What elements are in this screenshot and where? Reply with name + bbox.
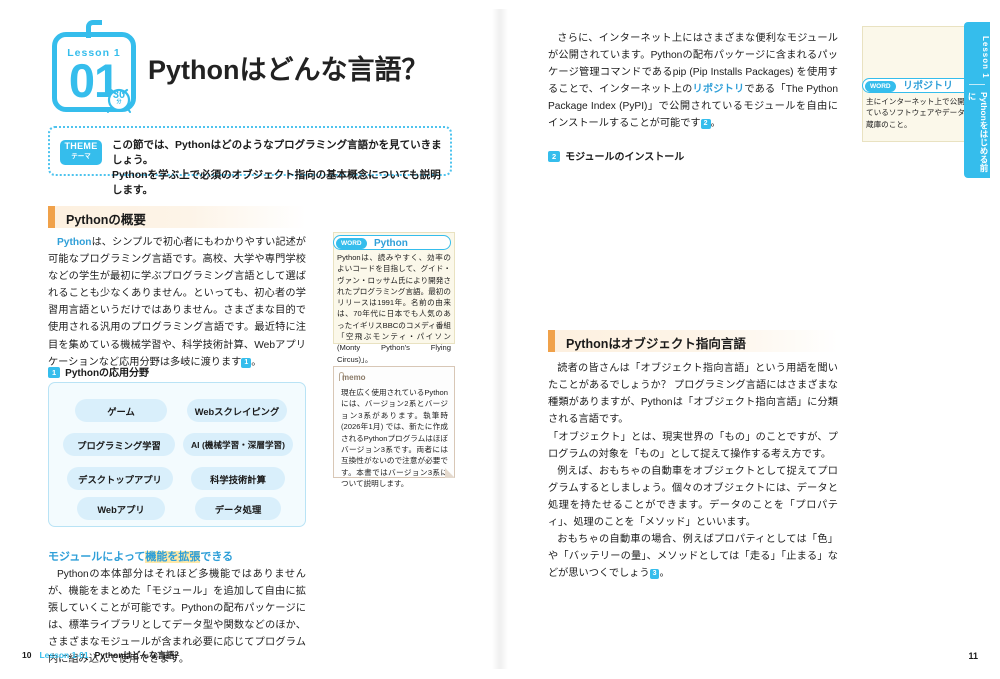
word-pill-repository: WORD リポジトリ (862, 78, 980, 93)
page-gutter-shadow (492, 9, 508, 669)
footer-title-left: Pythonはどんな言語？ (95, 650, 183, 660)
section-heading-oop: Pythonはオブジェクト指向言語 (548, 330, 838, 352)
pill-web-app: Webアプリ (77, 497, 165, 520)
paragraph-python-overview: Pythonは、シンプルで初心者にもわかりやすい記述が可能なプログラミング言語で… (48, 234, 306, 371)
pill-data-processing: データ処理 (195, 497, 281, 520)
index-tab-divider (969, 84, 985, 85)
section-heading-bar (48, 206, 55, 228)
footer-page-number-left: 10 (22, 650, 31, 660)
paragraph-oop-intro: 読者の皆さんは「オブジェクト指向言語」という用語を聞いたことがあるでしょうか？ … (548, 360, 838, 428)
section-heading-text: Pythonの概要 (66, 209, 146, 228)
figure-1-caption: 1Pythonの応用分野 (48, 364, 149, 379)
word-body-python: Pythonは、読みやすく、効率のよいコードを目指して、グイド・ヴァン・ロッサム… (337, 252, 451, 365)
figure-reference-3: 3 (650, 569, 660, 579)
theme-text: この節では、Pythonはどのようなプログラミング言語かを見ていきましょう。 P… (112, 138, 442, 198)
index-tab[interactable]: Lesson 1 Pythonをはじめる前に (964, 22, 990, 178)
paragraph-python-overview-text: は、シンプルで初心者にもわかりやすい記述が可能なプログラミング言語です。高校、大… (48, 237, 306, 368)
inline-keyword-python: Python (57, 237, 92, 248)
page-title: Pythonはどんな言語？ (148, 48, 429, 87)
subheading-part-c: できる (200, 551, 233, 563)
subheading-modules: モジュールによって機能を拡張できる (48, 548, 233, 564)
figure-1-application-fields: ゲーム Webスクレイピング プログラミング学習 AI (機械学習・深層学習) … (48, 382, 306, 527)
pill-desktop-app: デスクトップアプリ (67, 467, 173, 490)
figure-2-caption: 2モジュールのインストール (548, 148, 684, 163)
figure-2-caption-text: モジュールのインストール (565, 152, 684, 163)
pill-ai: AI (機械学習・深層学習) (183, 433, 293, 456)
section-heading-python-overview: Pythonの概要 (48, 206, 306, 228)
subheading-part-b-highlight: 機能を拡張 (145, 551, 200, 563)
section-heading-bar (548, 330, 555, 352)
word-tag: WORD (336, 238, 367, 249)
theme-line-1: この節では、Pythonはどのようなプログラミング言語かを見ていきましょう。 (112, 138, 442, 168)
figure-1-caption-text: Pythonの応用分野 (65, 368, 149, 379)
index-tab-chapter: Pythonをはじめる前に (964, 92, 990, 178)
pill-web-scraping: Webスクレイピング (187, 399, 287, 422)
section-heading-text: Pythonはオブジェクト指向言語 (566, 333, 746, 352)
book-spread: Lesson 1 01 30 分 Pythonはどんな言語？ THEME テーマ… (0, 0, 1000, 679)
memo-title: memo (342, 373, 366, 382)
paragraph-tail: 。 (251, 357, 261, 368)
paragraph-pip-modules: さらに、インターネット上にはさまざまな便利なモジュールが公開されています。Pyt… (548, 30, 838, 133)
lesson-badge-tab (86, 20, 102, 38)
paragraph-property-method-text: おもちゃの自動車の場合、例えばプロパティとしては「色」や「バッテリーの量」、メソ… (548, 534, 838, 579)
theme-tag: THEME テーマ (60, 140, 102, 165)
figure-1-number: 1 (48, 367, 60, 378)
memo-fold-corner (445, 468, 455, 478)
figure-2-number: 2 (548, 151, 560, 162)
pill-game: ゲーム (75, 399, 167, 422)
paragraph-property-method: おもちゃの自動車の場合、例えばプロパティとしては「色」や「バッテリーの量」、メソ… (548, 531, 838, 582)
figure-reference-2: 2 (701, 119, 711, 129)
memo-body: 現在広く使用されているPythonには、バージョン2系とバージョン3系があります… (341, 387, 448, 490)
subheading-part-a: モジュールによって (48, 551, 145, 563)
word-pill-python: WORD Python (333, 235, 451, 250)
pill-scientific-computing: 科学技術計算 (191, 467, 285, 490)
paragraph-toy-car-example: 例えば、おもちゃの自動車をオブジェクトとして捉えてプログラムするとしましょう。個… (548, 463, 838, 531)
word-body-repository: 主にインターネット上で公開されているソフトウェアやデータの貯蔵庫のこと。 (866, 96, 980, 130)
paragraph-pip-tail: 。 (711, 118, 721, 129)
footer-page-number-right: 11 (968, 651, 978, 661)
left-page: Lesson 1 01 30 分 Pythonはどんな言語？ THEME テーマ… (0, 0, 500, 679)
paragraph-toy-car-example-text: 例えば、おもちゃの自動車をオブジェクトとして捉えてプログラムするとしましょう。個… (548, 466, 838, 528)
paragraph-object-definition: 「オブジェクト」とは、現実世界の「もの」のことですが、プログラムの対象を「もの」… (548, 429, 838, 463)
index-tab-lesson: Lesson 1 (964, 36, 990, 79)
pill-programming-learning: プログラミング学習 (63, 433, 175, 456)
memo-box: memo 現在広く使用されているPythonには、バージョン2系とバージョン3系… (333, 366, 455, 478)
word-tag: WORD (865, 81, 896, 92)
theme-tag-main: THEME (60, 140, 102, 153)
footer-left: 10Lesson 1-01Pythonはどんな言語？ (22, 649, 183, 661)
footer-lesson-left: Lesson 1-01 (39, 650, 88, 660)
paragraph-property-method-tail: 。 (659, 568, 669, 579)
theme-box: THEME テーマ この節では、Pythonはどのようなプログラミング言語かを見… (48, 126, 452, 176)
word-term-python: Python (374, 237, 408, 250)
paragraph-oop-intro-text: 読者の皆さんは「オブジェクト指向言語」という用語を聞いたことがあるでしょうか？ … (548, 363, 838, 425)
clock-time-unit: 分 (104, 100, 134, 105)
inline-keyword-repository: リポジトリ (692, 84, 744, 95)
theme-tag-sub: テーマ (60, 153, 102, 161)
theme-line-2: Pythonを学ぶ上で必須のオブジェクト指向の基本概念についても説明します。 (112, 168, 442, 198)
paragraph-object-definition-text: 「オブジェクト」とは、現実世界の「もの」のことですが、プログラムの対象を「もの」… (548, 432, 838, 460)
figure-reference-1: 1 (241, 358, 251, 368)
word-term-repository: リポジトリ (903, 80, 953, 93)
